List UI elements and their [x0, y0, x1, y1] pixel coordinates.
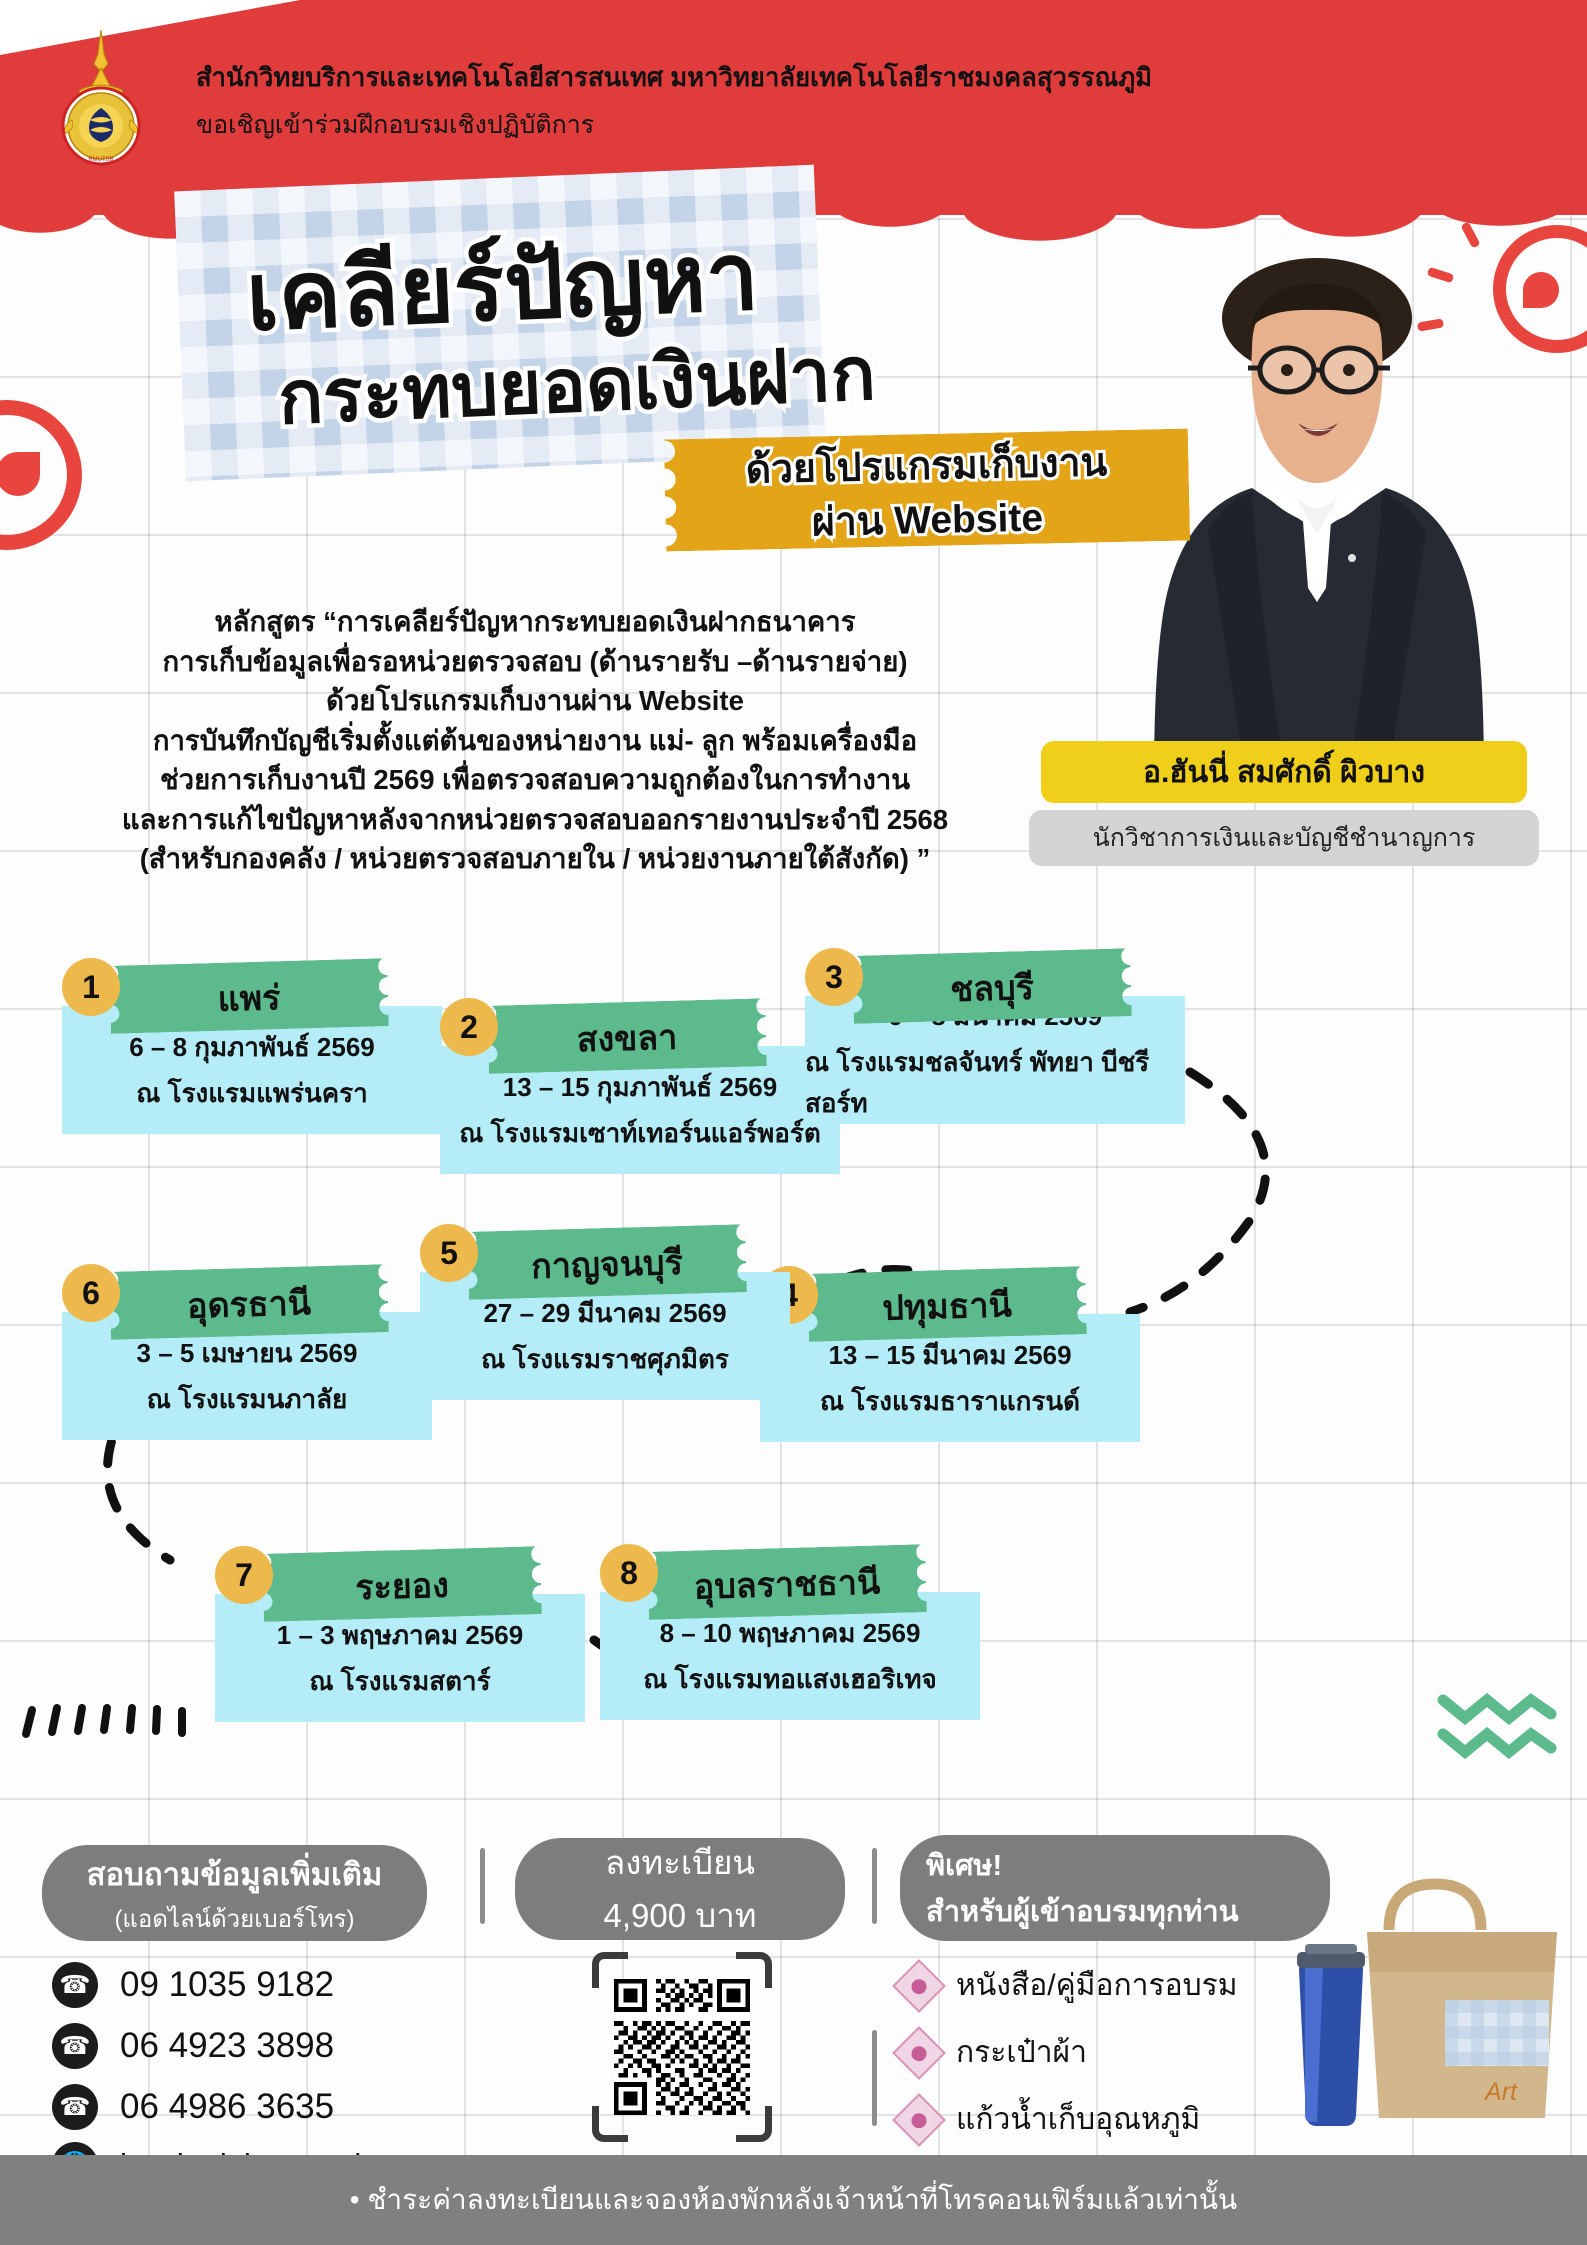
- subtitle-line-2: ผ่าน Website: [665, 489, 1190, 554]
- session-number-badge: 2: [440, 998, 498, 1056]
- contact-subtitle: (แอดไลน์ด้วยเบอร์โทร): [114, 1899, 354, 1938]
- poster-title-line-2: กระทบยอดเงินฝาก: [276, 314, 878, 457]
- perk-label: กระเป๋าผ้า: [956, 2029, 1087, 2076]
- perk-label: หนังสือ/คู่มือการอบรม: [956, 1962, 1238, 2009]
- perk-item-3: แก้วน้ำเก็บอุณหภูมิ: [900, 2096, 1200, 2143]
- phone-number: 06 4986 3635: [120, 2087, 334, 2127]
- organization-name: สำนักวิทยบริการและเทคโนโลยีสารสนเทศ มหาว…: [196, 58, 1152, 98]
- contact-title: สอบถามข้อมูลเพิ่มเติม: [87, 1849, 383, 1899]
- section-divider-3: [872, 2030, 877, 2126]
- description-line: ช่วยการเก็บงานปี 2569 เพื่อตรวจสอบความถู…: [70, 760, 1000, 800]
- footer-note-bar: • ชำระค่าลงทะเบียนและจองห้องพักหลังเจ้าห…: [0, 2155, 1587, 2245]
- svg-text:RMUTSB: RMUTSB: [88, 157, 113, 163]
- special-title: พิเศษ!: [926, 1842, 1002, 1888]
- footer-note-text: ชำระค่าลงทะเบียนและจองห้องพักหลังเจ้าหน้…: [367, 2184, 1237, 2215]
- description-line: การเก็บข้อมูลเพื่อรอหน่วยตรวจสอบ (ด้านรา…: [70, 642, 1000, 682]
- phone-icon: ☎: [52, 2084, 98, 2130]
- green-wave-decoration: [1437, 1684, 1557, 1780]
- session-city: ปทุมธานี: [807, 1268, 1087, 1344]
- session-venue: ณ โรงแรมเซาท์เทอร์นแอร์พอร์ต: [459, 1113, 820, 1154]
- contact-header-pill: สอบถามข้อมูลเพิ่มเติม (แอดไลน์ด้วยเบอร์โ…: [42, 1845, 427, 1941]
- contact-phone-row-1[interactable]: ☎ 09 1035 9182: [52, 1962, 334, 2008]
- session-city: ระยอง: [262, 1548, 542, 1624]
- dashed-decoration: [18, 1700, 248, 1748]
- course-description: หลักสูตร “การเคลียร์ปัญหากระทบยอดเงินฝาก…: [70, 602, 1000, 879]
- session-number-badge: 3: [805, 948, 863, 1006]
- phone-icon: ☎: [52, 1962, 98, 2008]
- session-venue: ณ โรงแรมสตาร์: [309, 1661, 490, 1702]
- speaker-role-badge: นักวิชาการเงินและบัญชีชำนาญการ: [1029, 810, 1539, 866]
- phone-number: 09 1035 9182: [120, 1965, 334, 2005]
- description-line: ด้วยโปรแกรมเก็บงานผ่าน Website: [70, 681, 1000, 721]
- session-city: ชลบุรี: [852, 950, 1132, 1026]
- session-city: แพร่: [109, 960, 389, 1036]
- footer-note: • ชำระค่าลงทะเบียนและจองห้องพักหลังเจ้าห…: [350, 2178, 1237, 2222]
- session-city: สงขลา: [487, 1000, 767, 1076]
- session-venue: ณ โรงแรมราชศุภมิตร: [481, 1339, 729, 1380]
- contact-phone-row-3[interactable]: ☎ 06 4986 3635: [52, 2084, 334, 2130]
- special-subtitle: สำหรับผู้เข้าอบรมทุกท่าน: [926, 1888, 1239, 1934]
- perk-item-1: หนังสือ/คู่มือการอบรม: [900, 1962, 1238, 2009]
- perk-label: แก้วน้ำเก็บอุณหภูมิ: [956, 2096, 1200, 2143]
- session-number-badge: 6: [62, 1264, 120, 1322]
- session-city: อุดรธานี: [109, 1266, 389, 1342]
- yellow-subtitle-text: ด้วยโปรแกรมเก็บงาน ผ่าน Website: [664, 435, 1190, 554]
- speaker-name-badge: อ.ฮันนี่ สมศักดิ์ ผิวบาง: [1041, 741, 1527, 803]
- session-city: อุบลราชธานี: [647, 1546, 927, 1622]
- session-number-badge: 8: [600, 1544, 658, 1602]
- section-divider-1: [480, 1848, 485, 1924]
- session-number-badge: 1: [62, 958, 120, 1016]
- rmutsb-university-seal-logo: RMUTSB: [42, 28, 160, 168]
- diamond-bullet-icon: [892, 1959, 946, 2013]
- contact-phone-row-2[interactable]: ☎ 06 4923 3898: [52, 2023, 334, 2069]
- perk-item-2: กระเป๋าผ้า: [900, 2029, 1087, 2076]
- registration-fee-pill: ลงทะเบียน 4,900 บาท: [515, 1838, 845, 1940]
- description-line: การบันทึกบัญชีเริ่มตั้งแต่ต้นของหน่ายงาน…: [70, 721, 1000, 761]
- session-venue: ณ โรงแรมนภาลัย: [147, 1379, 348, 1420]
- description-line: หลักสูตร “การเคลียร์ปัญหากระทบยอดเงินฝาก…: [70, 602, 1000, 642]
- session-city: กาญจนบุรี: [467, 1226, 747, 1302]
- session-venue: ณ โรงแรมชลจันทร์ พัทยา บีชรีสอร์ท: [805, 1042, 1185, 1124]
- invitation-line: ขอเชิญเข้าร่วมฝึกอบรมเชิงปฏิบัติการ: [196, 105, 594, 145]
- section-divider-2: [872, 1848, 877, 1924]
- description-line: (สำหรับกองคลัง / หน่วยตรวจสอบภายใน / หน่…: [70, 839, 1000, 879]
- session-venue: ณ โรงแรมแพร่นครา: [136, 1073, 367, 1114]
- phone-number: 06 4923 3898: [120, 2026, 334, 2066]
- registration-label: ลงทะเบียน: [605, 1836, 755, 1889]
- phone-icon: ☎: [52, 2023, 98, 2069]
- gift-tote-and-tumbler-image: Art: [1239, 1860, 1569, 2160]
- qr-code-image: [614, 1972, 750, 2122]
- diamond-bullet-icon: [892, 2026, 946, 2080]
- session-venue: ณ โรงแรมทอแสงเฮอริเทจ: [643, 1659, 937, 1700]
- session-number-badge: 7: [215, 1546, 273, 1604]
- registration-qr-code[interactable]: [592, 1952, 772, 2142]
- diamond-bullet-icon: [892, 2093, 946, 2147]
- registration-price: 4,900 บาท: [604, 1889, 757, 1942]
- session-number-badge: 5: [420, 1224, 478, 1282]
- description-line: และการแก้ไขปัญหาหลังจากหน่วยตรวจสอบออกรา…: [70, 800, 1000, 840]
- svg-text:Art: Art: [1483, 2078, 1518, 2106]
- session-venue: ณ โรงแรมธาราแกรนด์: [820, 1381, 1080, 1422]
